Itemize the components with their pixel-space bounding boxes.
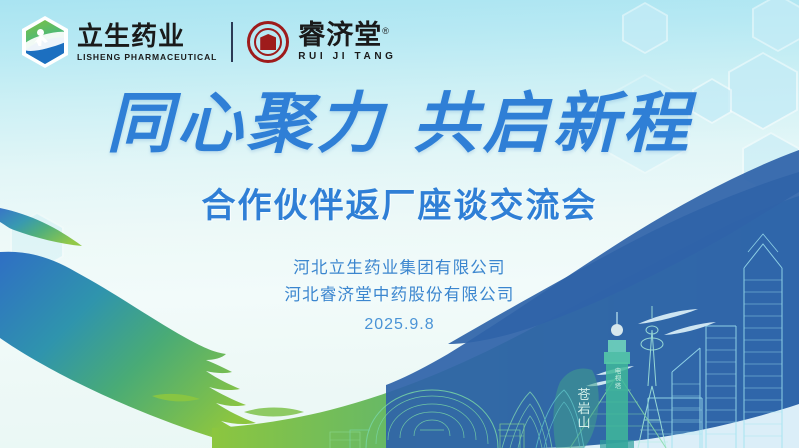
ruijitang-brand-text: 睿济堂® RUI JI TANG: [298, 22, 396, 62]
poster-subtitle: 合作伙伴返厂座谈交流会: [0, 186, 799, 227]
lowrise-block-group-icon: [330, 424, 524, 448]
poster-headline: 同心聚力共启新程: [0, 92, 799, 158]
tv-tower-label: 电视塔: [612, 368, 624, 390]
ruijitang-cn-name: 睿济堂®: [298, 22, 396, 49]
hexagon-landscape-logo-icon: [22, 16, 68, 68]
logo-divider: [231, 22, 233, 62]
angular-roof-building-icon: [672, 348, 700, 448]
event-poster: 立生药业 LISHENG PHARMACEUTICAL 睿济堂® RUI JI …: [0, 0, 799, 448]
lisheng-cn-name: 立生药业: [77, 23, 217, 49]
mountain-contour-lines: [502, 390, 584, 448]
circular-seal-icon: [247, 21, 289, 63]
dome-stadium-outline: [350, 390, 520, 448]
brush-fleck-decor: [152, 394, 304, 417]
lowrise-building-group-icon: [648, 398, 702, 448]
lisheng-en-name: LISHENG PHARMACEUTICAL: [77, 53, 217, 62]
lisheng-brand-text: 立生药业 LISHENG PHARMACEUTICAL: [77, 23, 217, 62]
organizer-list: 河北立生药业集团有限公司 河北睿济堂中药股份有限公司: [0, 255, 799, 309]
hexagon-decor-icon: [622, 2, 668, 54]
cangyan-mountain-label: 苍岩山: [575, 388, 593, 430]
event-date: 2025.9.8: [0, 316, 799, 334]
registered-mark-icon: ®: [382, 26, 390, 36]
organizer-name: 河北睿济堂中药股份有限公司: [0, 282, 799, 309]
headline-part-2: 共启新程: [413, 88, 693, 161]
skyscraper-mid-icon: [706, 326, 736, 448]
headline-part-1: 同心聚力: [107, 88, 387, 161]
ruijitang-en-name: RUI JI TANG: [298, 52, 396, 62]
brand-logo-bar: 立生药业 LISHENG PHARMACEUTICAL 睿济堂® RUI JI …: [22, 16, 397, 68]
hexagon-decor-icon: [752, 0, 799, 52]
organizer-name: 河北立生药业集团有限公司: [0, 255, 799, 282]
